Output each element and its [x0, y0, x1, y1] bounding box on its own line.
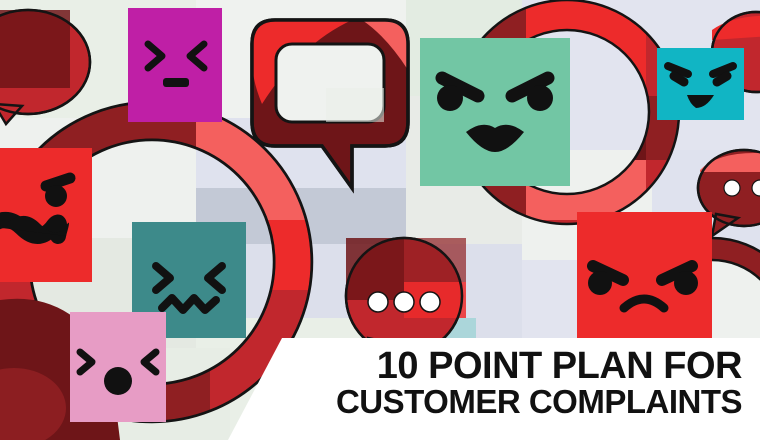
title-line-2: CUSTOMER COMPLAINTS	[336, 386, 742, 417]
illustration-canvas: 10 POINT PLAN FOR CUSTOMER COMPLAINTS	[0, 0, 760, 440]
title-line-1: 10 POINT PLAN FOR	[377, 348, 742, 384]
